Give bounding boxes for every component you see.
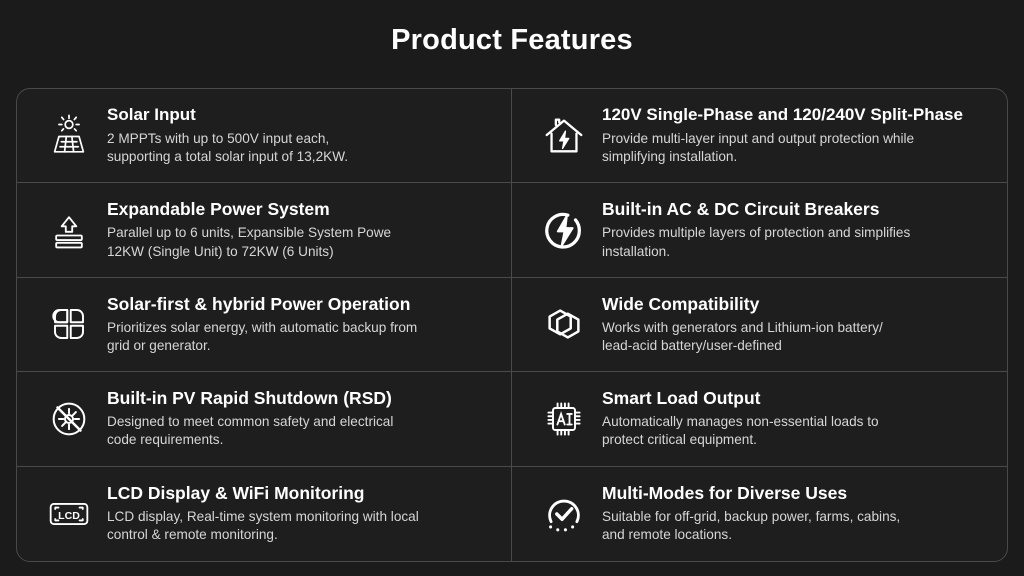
- feature-description: Provides multiple layers of protection a…: [602, 224, 993, 261]
- feature-cell-lcd-wifi: LCD LCD Display & WiFi Monitoring LCD di…: [17, 467, 512, 561]
- feature-cell-circuit-breakers: Built-in AC & DC Circuit Breakers Provid…: [512, 183, 1007, 277]
- features-grid: Solar Input 2 MPPTs with up to 500V inpu…: [17, 89, 1007, 561]
- feature-title: Wide Compatibility: [602, 294, 993, 315]
- feature-text: LCD Display & WiFi Monitoring LCD displa…: [107, 483, 501, 545]
- feature-text: Solar Input 2 MPPTs with up to 500V inpu…: [107, 105, 501, 166]
- feature-cell-wide-compatibility: Wide Compatibility Works with generators…: [512, 278, 1007, 372]
- feature-cell-expandable-power: Expandable Power System Parallel up to 6…: [17, 183, 512, 277]
- lcd-screen-icon: LCD: [31, 492, 107, 536]
- feature-description: LCD display, Real-time system monitoring…: [107, 508, 497, 545]
- feature-cell-smart-load-output: Smart Load Output Automatically manages …: [512, 372, 1007, 466]
- feature-cell-multi-modes: Multi-Modes for Diverse Uses Suitable fo…: [512, 467, 1007, 561]
- feature-description: Works with generators and Lithium-ion ba…: [602, 319, 993, 356]
- feature-text: Expandable Power System Parallel up to 6…: [107, 199, 501, 261]
- feature-text: Wide Compatibility Works with generators…: [602, 294, 997, 356]
- feature-cell-solar-input: Solar Input 2 MPPTs with up to 500V inpu…: [17, 89, 512, 183]
- feature-description: Suitable for off-grid, backup power, far…: [602, 508, 993, 545]
- feature-text: Built-in AC & DC Circuit Breakers Provid…: [602, 199, 997, 261]
- house-bolt-icon: [526, 113, 602, 159]
- solar-panel-icon: [31, 113, 107, 159]
- linked-hexagons-icon: [526, 301, 602, 347]
- no-sun-shutdown-icon: [31, 396, 107, 442]
- circuit-breaker-bolt-icon: [526, 207, 602, 253]
- svg-text:LCD: LCD: [58, 510, 80, 522]
- stacked-expand-icon: [31, 208, 107, 252]
- features-panel: Solar Input 2 MPPTs with up to 500V inpu…: [16, 88, 1008, 562]
- feature-description: Parallel up to 6 units, Expansible Syste…: [107, 224, 497, 261]
- check-circle-dotted-icon: [526, 491, 602, 537]
- ai-chip-icon: [526, 397, 602, 441]
- feature-title: Smart Load Output: [602, 388, 993, 409]
- feature-description: Provide multi-layer input and output pro…: [602, 130, 993, 167]
- feature-title: Built-in PV Rapid Shutdown (RSD): [107, 388, 497, 409]
- feature-title: LCD Display & WiFi Monitoring: [107, 483, 497, 504]
- feature-text: Built-in PV Rapid Shutdown (RSD) Designe…: [107, 388, 501, 450]
- feature-description: 2 MPPTs with up to 500V input each, supp…: [107, 130, 497, 167]
- page-title: Product Features: [0, 24, 1024, 57]
- feature-title: 120V Single-Phase and 120/240V Split-Pha…: [602, 105, 993, 125]
- feature-description: Prioritizes solar energy, with automatic…: [107, 319, 497, 356]
- product-features-slide: Product Features: [0, 0, 1024, 576]
- feature-title: Built-in AC & DC Circuit Breakers: [602, 199, 993, 220]
- feature-text: 120V Single-Phase and 120/240V Split-Pha…: [602, 105, 997, 166]
- feature-cell-solar-first-hybrid: Solar-first & hybrid Power Operation Pri…: [17, 278, 512, 372]
- feature-description: Designed to meet common safety and elect…: [107, 413, 497, 450]
- feature-text: Smart Load Output Automatically manages …: [602, 388, 997, 450]
- feature-title: Solar Input: [107, 105, 497, 125]
- feature-text: Multi-Modes for Diverse Uses Suitable fo…: [602, 483, 997, 545]
- feature-text: Solar-first & hybrid Power Operation Pri…: [107, 294, 501, 356]
- feature-cell-split-phase: 120V Single-Phase and 120/240V Split-Pha…: [512, 89, 1007, 183]
- feature-title: Multi-Modes for Diverse Uses: [602, 483, 993, 504]
- feature-cell-rapid-shutdown: Built-in PV Rapid Shutdown (RSD) Designe…: [17, 372, 512, 466]
- feature-title: Expandable Power System: [107, 199, 497, 220]
- feature-title: Solar-first & hybrid Power Operation: [107, 294, 497, 315]
- feature-description: Automatically manages non-essential load…: [602, 413, 993, 450]
- four-petal-icon: [31, 303, 107, 345]
